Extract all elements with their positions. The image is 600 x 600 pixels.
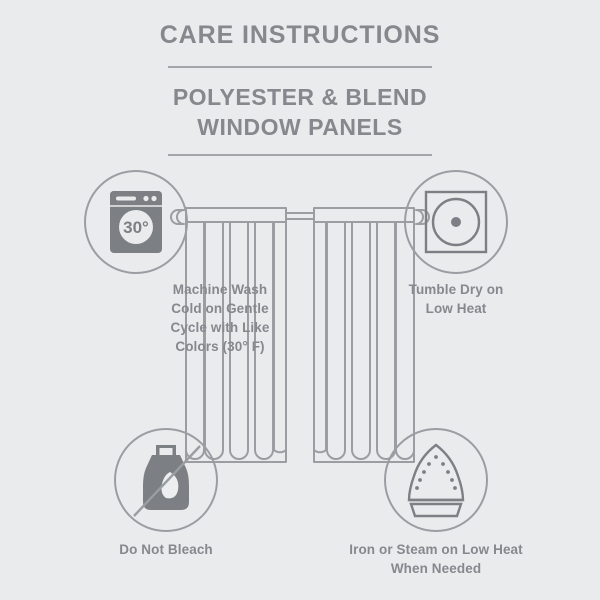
caption-tumble-dry: Tumble Dry on Low Heat xyxy=(346,280,566,318)
no-bleach-icon xyxy=(114,428,218,532)
caption-line: Do Not Bleach xyxy=(119,542,213,557)
caption-do-not-bleach: Do Not Bleach xyxy=(56,540,276,559)
caption-line: Tumble Dry on xyxy=(409,282,504,297)
caption-line: When Needed xyxy=(391,561,481,576)
caption-line: Low Heat xyxy=(426,301,487,316)
iron-icon xyxy=(384,428,488,532)
caption-line: Machine Wash xyxy=(173,282,267,297)
caption-line: Cold on Gentle xyxy=(171,301,268,316)
iron-body xyxy=(409,445,463,500)
caption-line: Iron or Steam on Low Heat xyxy=(349,542,523,557)
tumble-dry-icon xyxy=(404,170,508,274)
care-instructions-card: CARE INSTRUCTIONS POLYESTER & BLEND WIND… xyxy=(0,0,600,600)
wash-temperature-label: 30° xyxy=(123,218,149,237)
caption-line: Cycle with Like xyxy=(170,320,269,335)
caption-iron: Iron or Steam on Low Heat When Needed xyxy=(322,540,550,578)
iron-base-plate xyxy=(411,504,461,516)
caption-machine-wash: Machine Wash Cold on Gentle Cycle with L… xyxy=(110,280,330,357)
washing-machine-icon: 30° xyxy=(84,170,188,274)
caption-line: Colors (30° F) xyxy=(175,339,264,354)
